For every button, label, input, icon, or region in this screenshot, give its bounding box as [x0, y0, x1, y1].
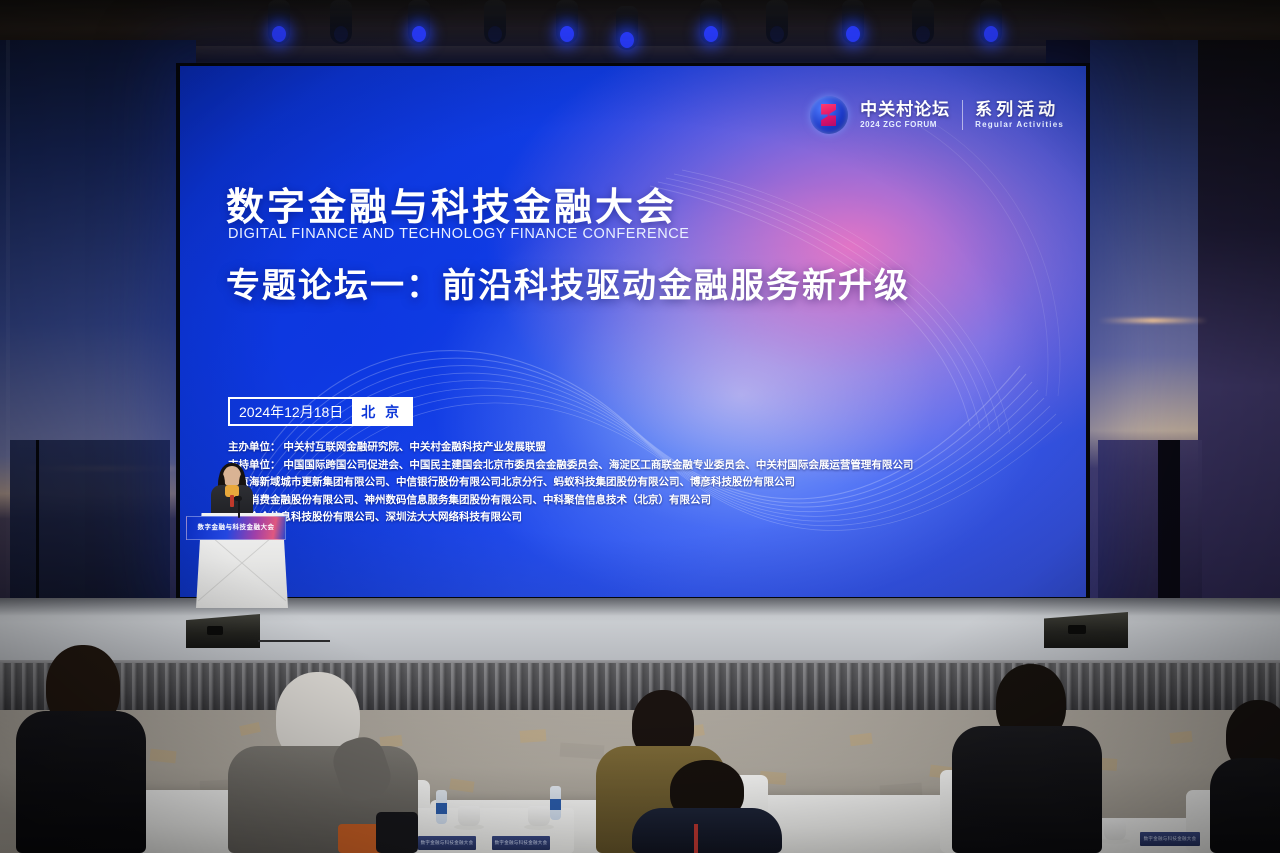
monitor-port-icon — [1068, 625, 1086, 634]
bottle-label — [436, 803, 447, 814]
stage-light-fixture — [912, 0, 934, 44]
audience-body — [16, 711, 146, 853]
organizer-line: 马上消费金融股份有限公司、神州数码信息服务集团股份有限公司、中科聚信信息技术（北… — [228, 492, 1038, 510]
microphone-head — [234, 496, 242, 501]
water-bottle — [436, 790, 447, 824]
logo-en-name: 2024 ZGC FORUM — [860, 120, 950, 129]
stage-light-fixture — [330, 0, 352, 44]
stage-light-fixture — [616, 6, 638, 50]
audience-body — [632, 808, 782, 853]
monitor-port-icon — [207, 626, 223, 635]
logo-tagline: 系列活动 Regular Activities — [975, 101, 1064, 130]
podium-banner-text: 数字金融与科技金融大会 — [187, 517, 285, 539]
stage-light-fixture — [268, 0, 290, 44]
stage-light-fixture — [980, 0, 1002, 44]
monitor-cable — [258, 640, 330, 642]
light-beam-icon — [984, 26, 998, 42]
stage-light-fixture — [556, 0, 578, 44]
organizer-block: 主办单位： 中关村互联网金融研究院、中关村金融科技产业发展联盟 支持单位： 中国… — [228, 439, 1038, 527]
audience-member — [1210, 700, 1280, 853]
light-beam-icon — [704, 26, 718, 42]
tea-cup — [528, 806, 550, 826]
podium-banner: 数字金融与科技金融大会 — [186, 516, 286, 540]
audience-body — [952, 726, 1102, 853]
audience-jacket — [376, 812, 418, 853]
audience-body — [1210, 758, 1280, 853]
name-card: 数字金融与科技金融大会 — [492, 836, 550, 850]
organizer-line: 支持单位： 中国国际跨国公司促进会、中国民主建国会北京市委员会金融委员会、海淀区… — [228, 457, 1038, 475]
light-beam-icon — [272, 26, 286, 42]
light-beam-icon — [846, 26, 860, 42]
logo-cn-name: 中关村论坛 — [860, 101, 950, 119]
conference-title-en: DIGITAL FINANCE AND TECHNOLOGY FINANCE C… — [228, 226, 689, 242]
zgc-forum-logo: 中关村论坛 2024 ZGC FORUM 系列活动 Regular Activi… — [810, 96, 1064, 134]
tea-cup — [1104, 820, 1126, 840]
organizer-line: 上海合合信息科技股份有限公司、深圳法大大网络科技有限公司 — [228, 509, 1038, 527]
light-beam-icon — [770, 26, 784, 42]
audience-lanyard — [694, 824, 698, 853]
stage-light-fixture — [484, 0, 506, 44]
light-beam-icon — [488, 26, 502, 42]
name-card-text: 数字金融与科技金融大会 — [1140, 832, 1200, 846]
name-card-text: 数字金融与科技金融大会 — [418, 836, 476, 850]
stage-light-fixture — [700, 0, 722, 44]
led-screen: 中关村论坛 2024 ZGC FORUM 系列活动 Regular Activi… — [180, 66, 1086, 597]
light-beam-icon — [334, 26, 348, 42]
light-beam-icon — [620, 32, 634, 48]
audience-member — [16, 645, 146, 853]
logo-tagline-en: Regular Activities — [975, 120, 1064, 129]
audience-member — [632, 760, 782, 853]
light-beam-icon — [916, 26, 930, 42]
logo-divider — [962, 100, 963, 130]
light-beam-icon — [412, 26, 426, 42]
wall-right-far-panel — [1198, 40, 1280, 670]
stage-front-shadow — [0, 598, 1280, 616]
name-card-text: 数字金融与科技金融大会 — [492, 836, 550, 850]
conference-title-cn: 数字金融与科技金融大会 — [226, 176, 677, 231]
name-card: 数字金融与科技金融大会 — [418, 836, 476, 850]
date-location-badge: 2024年12月18日 北 京 — [228, 397, 413, 426]
conference-photo-scene: 中关村论坛 2024 ZGC FORUM 系列活动 Regular Activi… — [0, 0, 1280, 853]
zgc-emblem-icon — [810, 96, 848, 134]
organizer-line: 北京海新域城市更新集团有限公司、中信银行股份有限公司北京分行、蚂蚁科技集团股份有… — [228, 474, 1038, 492]
organizer-line: 主办单位： 中关村互联网金融研究院、中关村金融科技产业发展联盟 — [228, 439, 1038, 457]
audience-member — [952, 664, 1102, 853]
bottle-label — [550, 799, 561, 810]
stage-light-fixture — [842, 0, 864, 44]
logo-primary-text: 中关村论坛 2024 ZGC FORUM — [860, 101, 950, 130]
logo-tagline-cn: 系列活动 — [975, 101, 1064, 119]
event-city: 北 京 — [352, 399, 411, 424]
forum-subtitle-cn: 专题论坛一：前沿科技驱动金融服务新升级 — [226, 258, 910, 307]
wall-right-glow-strip — [1098, 318, 1208, 323]
stage-light-fixture — [766, 0, 788, 44]
audience-member — [228, 672, 418, 853]
stage-light-fixture — [408, 0, 430, 44]
water-bottle — [550, 786, 561, 820]
tea-cup — [458, 806, 480, 826]
light-beam-icon — [560, 26, 574, 42]
event-date: 2024年12月18日 — [230, 399, 352, 424]
microphone-stem — [238, 500, 240, 518]
name-card: 数字金融与科技金融大会 — [1140, 832, 1200, 846]
